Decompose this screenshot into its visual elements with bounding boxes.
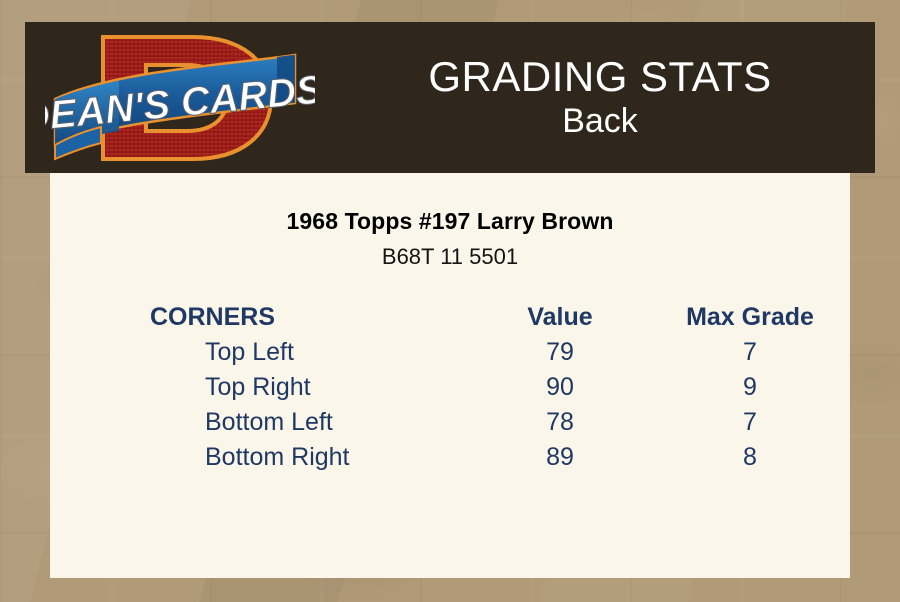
- column-header-max-grade: Max Grade: [650, 300, 850, 335]
- row-label: Bottom Left: [50, 405, 470, 440]
- column-header-value: Value: [470, 300, 650, 335]
- page-subtitle: Back: [562, 101, 638, 141]
- row-value: 78: [470, 405, 650, 440]
- row-max-grade: 8: [650, 440, 850, 475]
- table-row: Top Right909: [50, 370, 850, 405]
- row-value: 79: [470, 335, 650, 370]
- row-max-grade-flagged: 7: [650, 405, 850, 440]
- row-label: Top Right: [50, 370, 470, 405]
- card-sku: B68T 11 5501: [50, 244, 850, 270]
- header-bar: DEAN'S CARDS GRADING STATS Back: [25, 22, 875, 173]
- row-max-grade: 9: [650, 370, 850, 405]
- table-header-row: CORNERS Value Max Grade: [50, 300, 850, 335]
- table-row: Bottom Left787: [50, 405, 850, 440]
- table-row: Bottom Right898: [50, 440, 850, 475]
- grading-stats-table: CORNERS Value Max Grade Top Left797Top R…: [50, 300, 850, 475]
- card-title: 1968 Topps #197 Larry Brown: [50, 208, 850, 235]
- row-max-grade-flagged: 7: [650, 335, 850, 370]
- row-value: 90: [470, 370, 650, 405]
- table-row: Top Left797: [50, 335, 850, 370]
- content-panel: 1968 Topps #197 Larry Brown B68T 11 5501…: [50, 173, 850, 578]
- deans-cards-logo: DEAN'S CARDS: [45, 25, 315, 171]
- page-title: GRADING STATS: [428, 54, 771, 99]
- table-body: Top Left797Top Right909Bottom Left787Bot…: [50, 335, 850, 475]
- row-value: 89: [470, 440, 650, 475]
- row-label: Top Left: [50, 335, 470, 370]
- row-label: Bottom Right: [50, 440, 470, 475]
- header-title-group: GRADING STATS Back: [325, 22, 875, 173]
- column-header-corners: CORNERS: [50, 300, 470, 335]
